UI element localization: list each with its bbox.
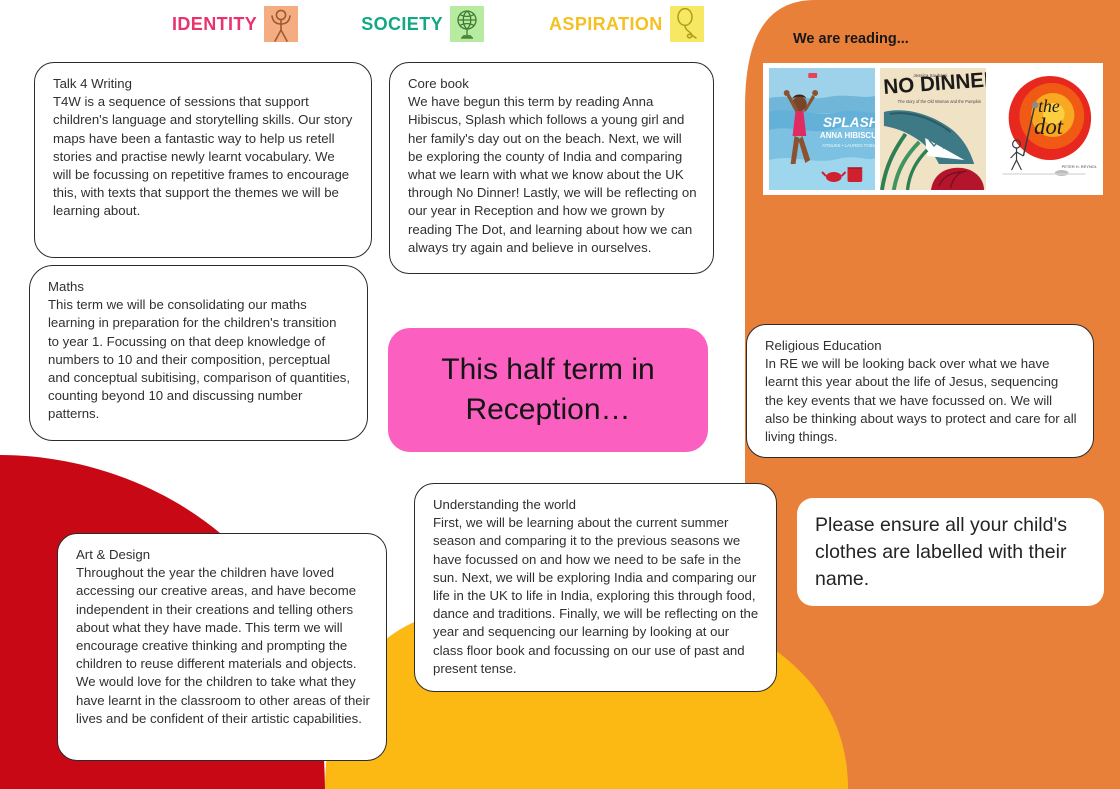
uniform-notice-text: Please ensure all your child's clothes a… (815, 514, 1067, 590)
svg-text:dot: dot (1034, 114, 1063, 139)
splash-anna-hibiscus-cover: SPLASH, ANNA HIBISCUS! ATINUKE • LAUREN … (769, 68, 875, 190)
pillar-identity-label: IDENTITY (172, 14, 257, 35)
card-body: This term we will be consolidating our m… (48, 296, 351, 423)
no-dinner-cover: NO DINNER! Jessica Souhami The story of … (880, 68, 986, 190)
globe-icon (449, 4, 485, 44)
card-body: Throughout the year the children have lo… (76, 564, 370, 728)
card-title: Talk 4 Writing (53, 75, 355, 93)
card-title: Core book (408, 75, 697, 93)
card-title: Understanding the world (433, 496, 760, 514)
pillar-society-label: SOCIETY (361, 14, 443, 35)
card-religious-education: Religious Education In RE we will be loo… (746, 324, 1094, 458)
pillar-society: SOCIETY (361, 4, 485, 44)
centre-title-text: This half term in Reception… (388, 350, 708, 430)
reading-covers-strip: SPLASH, ANNA HIBISCUS! ATINUKE • LAUREN … (763, 63, 1103, 195)
uniform-notice-box: Please ensure all your child's clothes a… (797, 498, 1104, 606)
reading-panel-title: We are reading... (793, 31, 909, 47)
the-dot-cover: the dot PETER H. REYNOLDS (991, 68, 1097, 190)
card-title: Maths (48, 278, 351, 296)
card-understanding-the-world: Understanding the world First, we will b… (414, 483, 777, 692)
card-title: Religious Education (765, 337, 1077, 355)
svg-text:Jessica Souhami: Jessica Souhami (913, 73, 947, 78)
card-body: T4W is a sequence of sessions that suppo… (53, 93, 355, 220)
centre-title-badge: This half term in Reception… (388, 328, 708, 452)
svg-text:PETER H. REYNOLDS: PETER H. REYNOLDS (1062, 164, 1097, 169)
card-body: First, we will be learning about the cur… (433, 514, 760, 678)
pillar-aspiration-label: ASPIRATION (549, 14, 663, 35)
card-body: We have begun this term by reading Anna … (408, 93, 697, 257)
svg-text:The story of the Old Woman and: The story of the Old Woman and the Pumpk… (898, 99, 982, 104)
pillar-identity: IDENTITY (172, 4, 299, 44)
card-core-book: Core book We have begun this term by rea… (389, 62, 714, 274)
person-icon (263, 4, 299, 44)
pillars-header: IDENTITY SOCIETY (0, 0, 745, 48)
pillar-aspiration: ASPIRATION (549, 4, 705, 44)
svg-text:ATINUKE • LAUREN TOBIA: ATINUKE • LAUREN TOBIA (822, 143, 875, 148)
svg-text:SPLASH,: SPLASH, (823, 114, 875, 130)
card-talk-4-writing: Talk 4 Writing T4W is a sequence of sess… (34, 62, 372, 258)
svg-text:ANNA HIBISCUS!: ANNA HIBISCUS! (820, 131, 875, 140)
card-body: In RE we will be looking back over what … (765, 355, 1077, 446)
card-title: Art & Design (76, 546, 370, 564)
card-art-and-design: Art & Design Throughout the year the chi… (57, 533, 387, 761)
card-maths: Maths This term we will be consolidating… (29, 265, 368, 441)
balloon-icon (669, 4, 705, 44)
